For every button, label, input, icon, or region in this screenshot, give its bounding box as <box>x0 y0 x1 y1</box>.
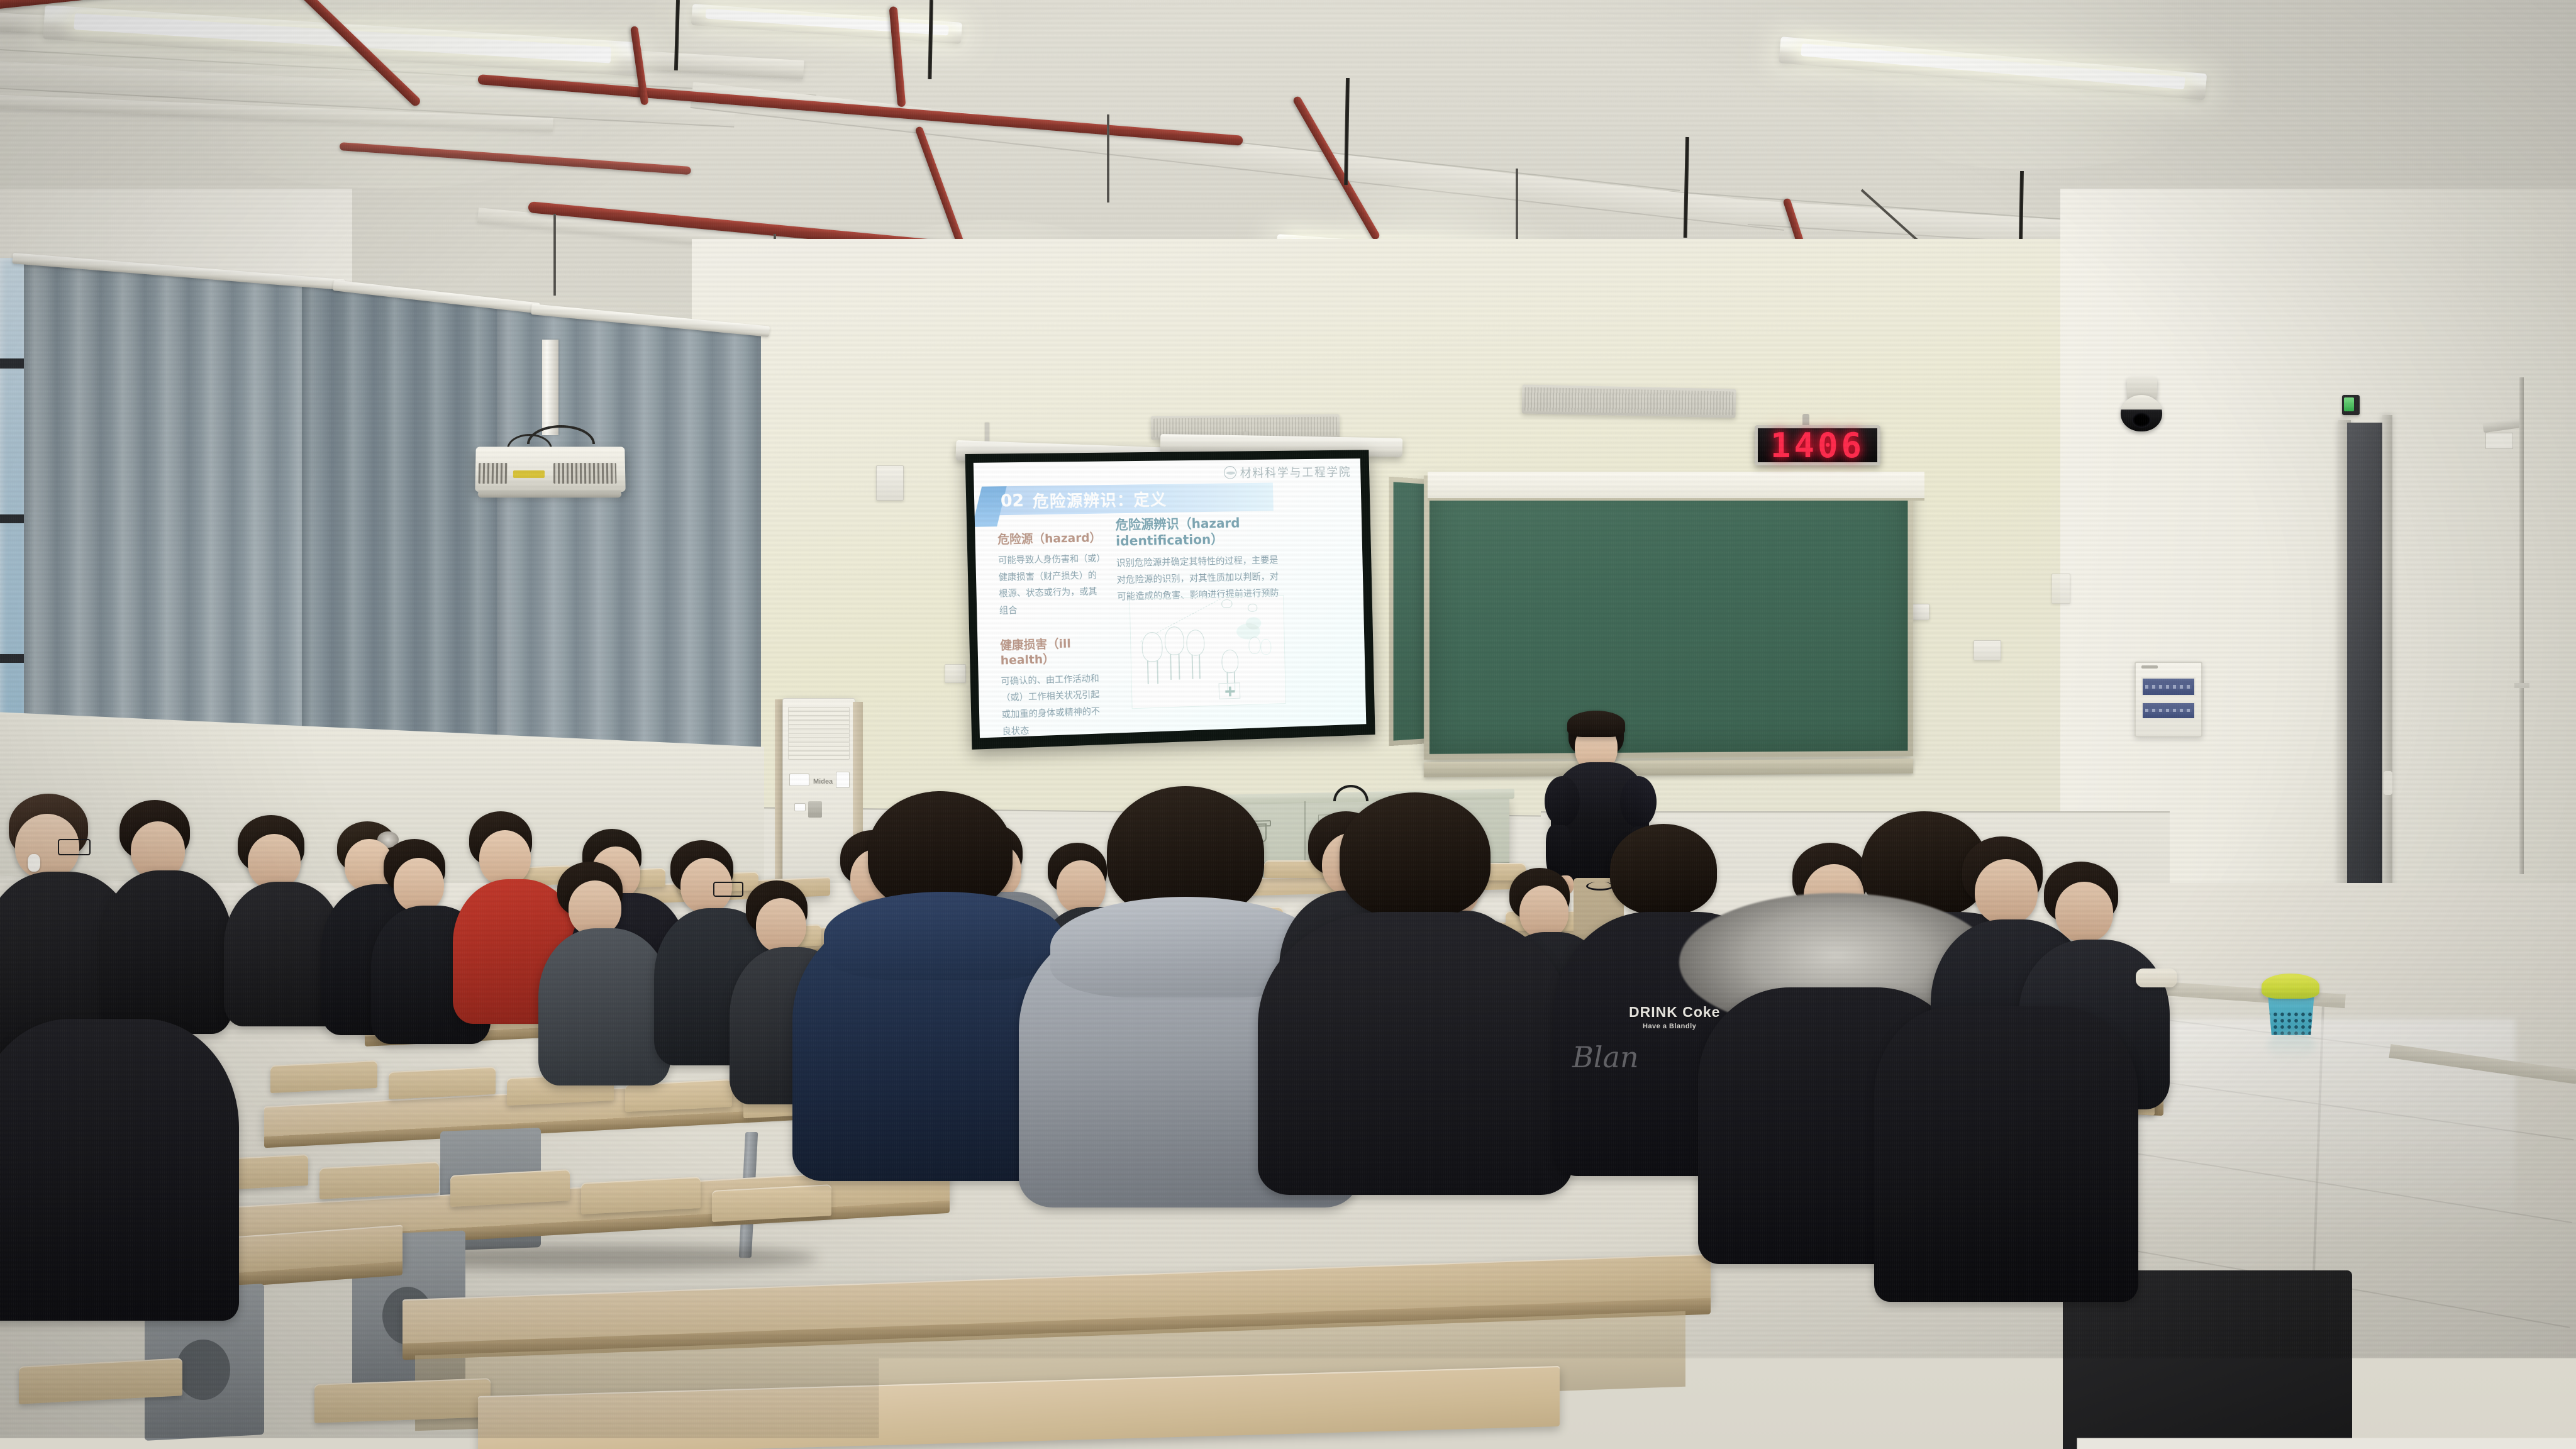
slide-left-column: 危险源（hazard） 可能导致人身伤害和（或）健康损害（财产损失）的根源、状态… <box>997 531 1106 738</box>
jacket <box>101 870 233 1034</box>
panel-latch <box>2141 665 2158 669</box>
illustration-leg <box>1192 655 1193 679</box>
slide-logo-text: 材料科学与工程学院 <box>1240 463 1351 480</box>
projector-mount-pole <box>542 340 558 435</box>
board-header-strip <box>1428 472 1924 501</box>
term-heading: 危险源辨识（hazard identification） <box>1115 514 1285 550</box>
projector-vent <box>553 463 616 484</box>
term-body: 可能导致人身伤害和（或）健康损害（财产损失）的根源、状态或行为，或其组合 <box>998 551 1103 620</box>
term-body: 可确认的、由工作活动和（或）工作相关状况引起或加重的身体或精神的不良状态 <box>1001 670 1106 738</box>
black-jacket <box>1874 1006 2138 1302</box>
slide-right-column: 危险源辨识（hazard identification） 识别危险源并确定其特性… <box>1115 514 1286 605</box>
jacket-print-line1: DRINK Coke <box>1629 1004 1720 1021</box>
ac-sensor <box>794 803 806 811</box>
illustration-leg <box>1179 653 1180 679</box>
gray-jacket <box>538 928 670 1085</box>
illustration-person <box>1248 636 1260 654</box>
black-jacket <box>0 1019 239 1321</box>
slide-term-hazard: 危险源（hazard） 可能导致人身伤害和（或）健康损害（财产损失）的根源、状态… <box>997 531 1103 619</box>
slide-institution-logo: 材料科学与工程学院 <box>1224 463 1352 481</box>
projection-screen: 材料科学与工程学院 02 危险源辨识：定义 危险源（hazard） 可能导致人身… <box>965 450 1375 749</box>
hair-fringe <box>1567 711 1625 737</box>
seat-back[interactable] <box>450 1169 570 1207</box>
slide-content: 材料科学与工程学院 02 危险源辨识：定义 危险源（hazard） 可能导致人身… <box>974 458 1367 738</box>
seat-back[interactable] <box>389 1067 496 1099</box>
illustration-leg <box>1147 661 1148 684</box>
illustration-flying-object <box>1221 599 1232 608</box>
black-jacket <box>1258 912 1572 1195</box>
head <box>2055 882 2113 942</box>
ac-display-panel[interactable] <box>808 801 822 818</box>
ceiling-projector <box>475 447 626 492</box>
desk-item[interactable] <box>2136 969 2177 987</box>
logo-mark-icon <box>1224 466 1236 479</box>
head <box>248 834 301 889</box>
head <box>1975 859 2038 924</box>
classroom-photo: 材料科学与工程学院 02 危险源辨识：定义 危险源（hazard） 可能导致人身… <box>0 0 2576 1449</box>
hood <box>824 892 1063 980</box>
head <box>394 858 444 912</box>
illustration-person <box>1165 626 1185 655</box>
slide-title-bar: 02 危险源辨识：定义 <box>991 483 1273 516</box>
hair <box>1340 792 1491 918</box>
digital-wall-clock: 1406 <box>1755 425 1880 465</box>
door-handle[interactable] <box>2384 771 2392 795</box>
illustration-flying-object <box>1248 604 1257 612</box>
chalkboard-side-surface <box>1394 482 1424 740</box>
curtain-panel[interactable] <box>497 252 761 821</box>
term-heading: 健康损害（ill health） <box>1000 636 1104 669</box>
illustration-person <box>1186 630 1205 656</box>
glasses <box>58 839 91 855</box>
jacket-print-line2: Have a Blandly <box>1643 1023 1696 1030</box>
shoulder <box>1620 776 1657 828</box>
seat-back[interactable] <box>319 1162 439 1199</box>
seat-back[interactable] <box>581 1177 701 1214</box>
slide-section-number: 02 <box>992 491 1033 511</box>
hair <box>1610 824 1717 914</box>
clock-time: 1406 <box>1770 426 1865 465</box>
wall-outlet <box>1974 640 2001 660</box>
seat-back[interactable] <box>314 1378 491 1423</box>
chalkboard-side-panel <box>1389 477 1429 747</box>
chalkboard-surface <box>1430 481 1908 754</box>
seat-back[interactable] <box>712 1184 831 1222</box>
wall-marking <box>2051 574 2070 604</box>
projector-vent <box>479 463 508 484</box>
illustration-person <box>1260 639 1272 655</box>
earbud <box>28 854 40 872</box>
conduit-clamp <box>2514 683 2529 688</box>
electrical-breaker-panel[interactable] <box>2135 662 2202 737</box>
wall-outlet <box>945 664 966 683</box>
pipe-hanger-rod <box>1107 114 1109 203</box>
shoulder <box>1545 776 1580 826</box>
trash-bag <box>2262 974 2319 999</box>
slide-term-ill-health: 健康损害（ill health） 可确认的、由工作活动和（或）工作相关状况引起或… <box>1000 636 1106 738</box>
breaker-window <box>2141 702 2196 719</box>
wall-notice-card <box>2485 433 2513 449</box>
ac-warning-sticker <box>789 774 809 786</box>
breaker-window <box>2141 677 2196 696</box>
head <box>1519 885 1568 938</box>
projector-warning-label <box>513 470 545 478</box>
illustration-first-aid-kit <box>1219 682 1241 699</box>
term-heading: 危险源（hazard） <box>997 531 1101 548</box>
desk-panel-cutout <box>176 1340 230 1400</box>
slide-title: 危险源辨识：定义 <box>1033 487 1167 512</box>
ac-energy-label <box>836 772 850 788</box>
chalkboard <box>1424 475 1913 760</box>
drawstring <box>1586 882 1614 891</box>
slide-illustration <box>1130 595 1286 709</box>
head <box>569 880 621 936</box>
head <box>479 830 531 885</box>
projector-base <box>477 490 622 497</box>
head <box>1057 860 1106 913</box>
ac-air-grille <box>788 707 850 760</box>
wall-speaker <box>1522 384 1736 418</box>
seat-back[interactable] <box>270 1060 377 1093</box>
illustration-leg <box>1157 660 1158 684</box>
camera-lens-icon <box>2132 413 2151 428</box>
illustration-person <box>1221 650 1238 674</box>
illustration-leg <box>1199 654 1200 679</box>
wall-conduit <box>2519 377 2524 874</box>
illustration-person <box>1141 632 1163 662</box>
cross-icon <box>1225 690 1235 692</box>
glasses <box>713 882 743 897</box>
jacket-script-print: Blan <box>1572 1040 1639 1074</box>
door-access-reader[interactable] <box>2342 395 2360 415</box>
ac-brand-label: Midea <box>813 778 833 786</box>
wall-sensor <box>876 465 904 501</box>
illustration-leg <box>1170 654 1171 680</box>
bin-floor-reflection <box>2268 1031 2316 1060</box>
head <box>756 898 806 952</box>
